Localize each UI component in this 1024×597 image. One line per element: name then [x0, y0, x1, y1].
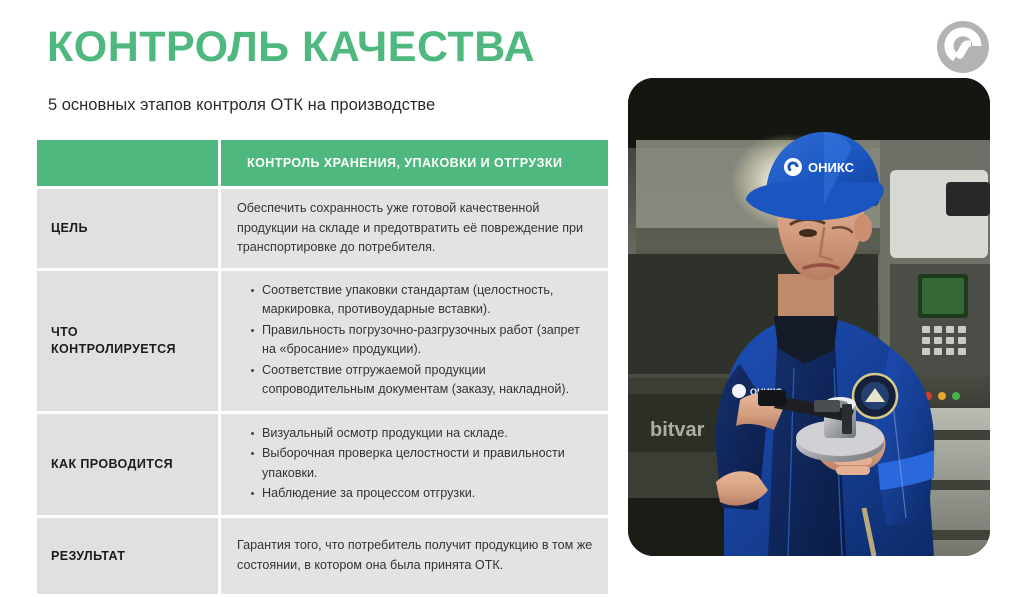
page-subtitle: 5 основных этапов контроля ОТК на произв…: [48, 96, 435, 115]
table-row: ЧТО КОНТРОЛИРУЕТСЯ Соответствие упаковки…: [37, 271, 608, 411]
row-content-cell-goal: Обеспечить сохранность уже готовой качес…: [221, 189, 608, 268]
row-content-cell-result: Гарантия того, что потребитель получит п…: [221, 518, 608, 594]
row-label-cell-goal: ЦЕЛЬ: [37, 189, 218, 268]
table-row: РЕЗУЛЬТАТ Гарантия того, что потребитель…: [37, 518, 608, 594]
list-item: Правильность погрузочно-разгрузочных раб…: [251, 321, 594, 360]
row-bullets-how: Визуальный осмотр продукции на складе. В…: [237, 424, 594, 505]
table-header-left-cell: [37, 140, 218, 186]
row-label-cell-what: ЧТО КОНТРОЛИРУЕТСЯ: [37, 271, 218, 411]
table-header-right-cell: КОНТРОЛЬ ХРАНЕНИЯ, УПАКОВКИ И ОТГРУЗКИ: [221, 140, 608, 186]
oniks-logo-icon: [934, 18, 992, 76]
list-item: Наблюдение за процессом отгрузки.: [251, 484, 594, 504]
row-content-cell-what: Соответствие упаковки стандартам (целост…: [221, 271, 608, 411]
row-label-goal: ЦЕЛЬ: [51, 220, 88, 236]
table-header-row: КОНТРОЛЬ ХРАНЕНИЯ, УПАКОВКИ И ОТГРУЗКИ: [37, 140, 608, 186]
table-row: КАК ПРОВОДИТСЯ Визуальный осмотр продукц…: [37, 414, 608, 515]
slide-root: КОНТРОЛЬ КАЧЕСТВА 5 основных этапов конт…: [0, 0, 1024, 576]
list-item: Визуальный осмотр продукции на складе.: [251, 424, 594, 444]
row-content-cell-how: Визуальный осмотр продукции на складе. В…: [221, 414, 608, 515]
page-title: КОНТРОЛЬ КАЧЕСТВА: [47, 24, 535, 71]
list-item: Выборочная проверка целостности и правил…: [251, 444, 594, 483]
quality-control-table: КОНТРОЛЬ ХРАНЕНИЯ, УПАКОВКИ И ОТГРУЗКИ Ц…: [37, 140, 608, 597]
row-text-result: Гарантия того, что потребитель получит п…: [237, 536, 594, 575]
row-bullets-what: Соответствие упаковки стандартам (целост…: [237, 281, 594, 401]
svg-text:ОНИКС: ОНИКС: [808, 160, 855, 175]
row-label-cell-result: РЕЗУЛЬТАТ: [37, 518, 218, 594]
row-label-how: КАК ПРОВОДИТСЯ: [51, 456, 173, 472]
table-header-right-label: КОНТРОЛЬ ХРАНЕНИЯ, УПАКОВКИ И ОТГРУЗКИ: [247, 156, 562, 170]
row-text-goal: Обеспечить сохранность уже готовой качес…: [237, 199, 594, 258]
row-label-result: РЕЗУЛЬТАТ: [51, 548, 125, 564]
table-row: ЦЕЛЬ Обеспечить сохранность уже готовой …: [37, 189, 608, 268]
list-item: Соответствие упаковки стандартам (целост…: [251, 281, 594, 320]
row-label-what: ЧТО КОНТРОЛИРУЕТСЯ: [51, 324, 204, 357]
row-label-cell-how: КАК ПРОВОДИТСЯ: [37, 414, 218, 515]
worker-inspecting-part-photo: bitvar ОНИКС: [628, 78, 990, 556]
list-item: Соответствие отгружаемой продукции сопро…: [251, 361, 594, 400]
svg-text:bitvar: bitvar: [650, 419, 705, 441]
